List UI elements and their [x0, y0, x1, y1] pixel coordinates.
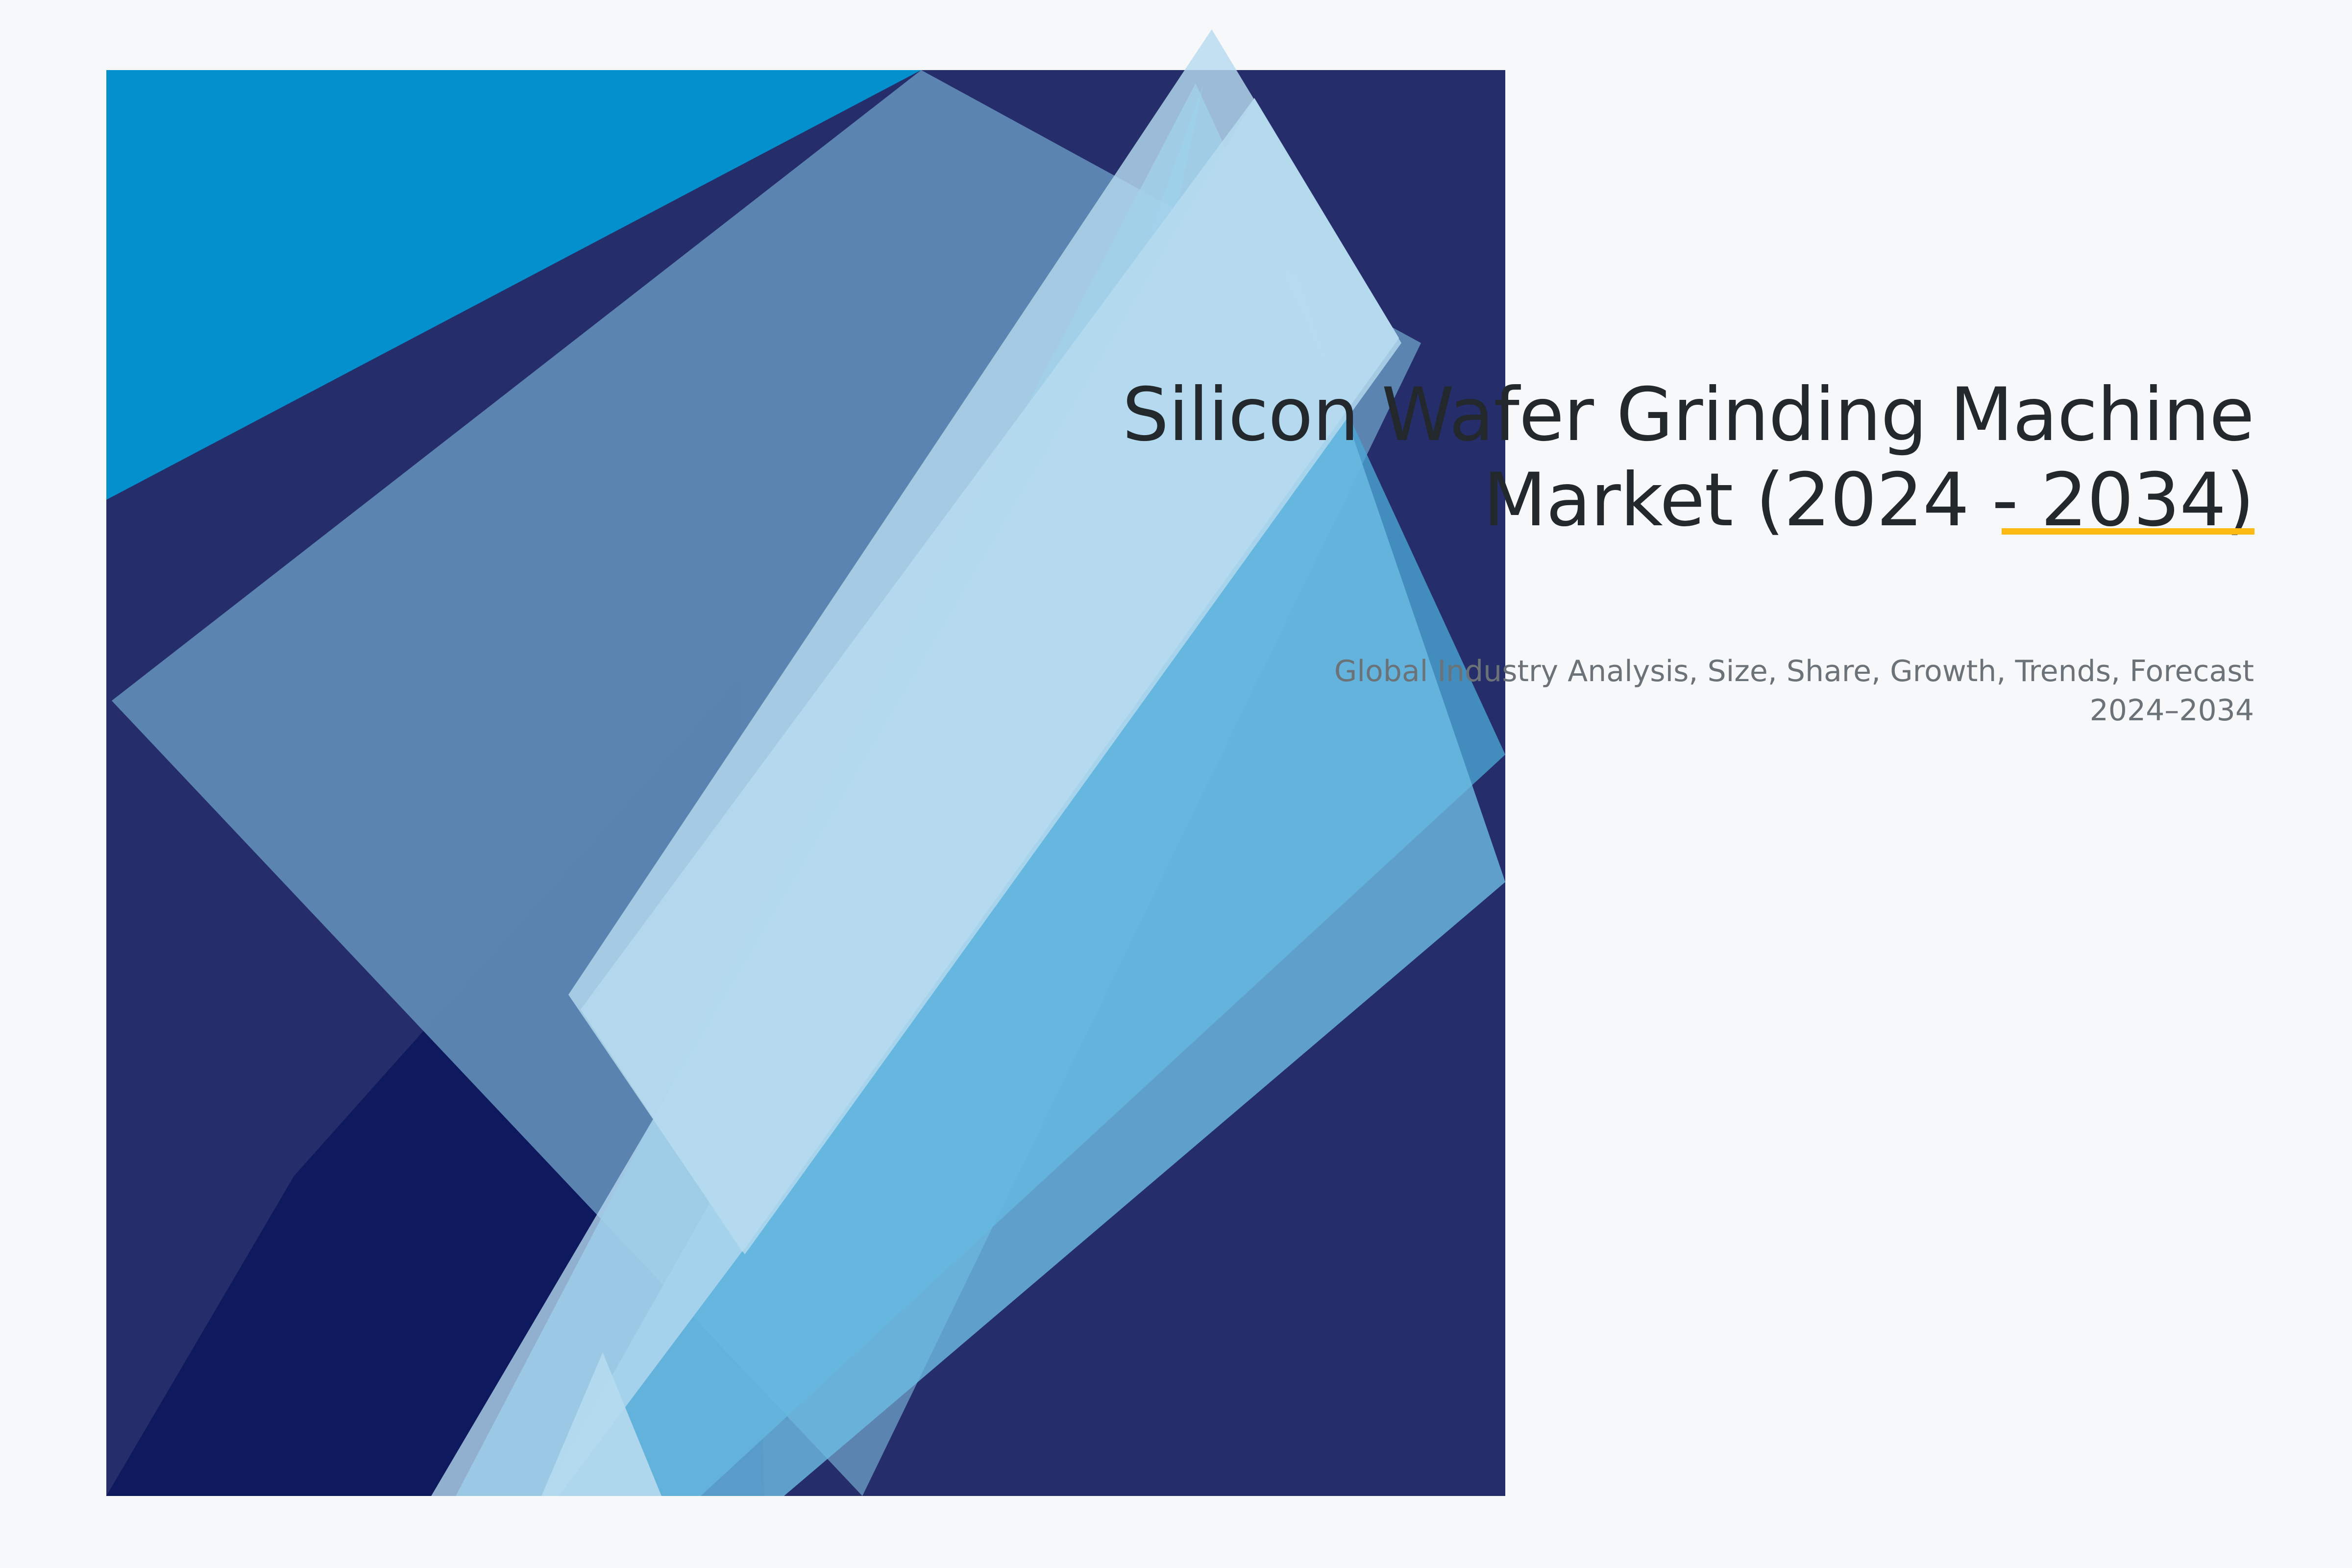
page-title: Silicon Wafer Grinding Machine Market (2… [980, 372, 2254, 543]
report-cover-page: Silicon Wafer Grinding Machine Market (2… [0, 0, 2352, 1568]
title-accent-underline [2002, 528, 2254, 535]
title-block: Silicon Wafer Grinding Machine Market (2… [980, 372, 2254, 543]
abstract-geometric-artwork [0, 0, 2352, 1568]
page-subtitle: Global Industry Analysis, Size, Share, G… [1274, 652, 2254, 731]
